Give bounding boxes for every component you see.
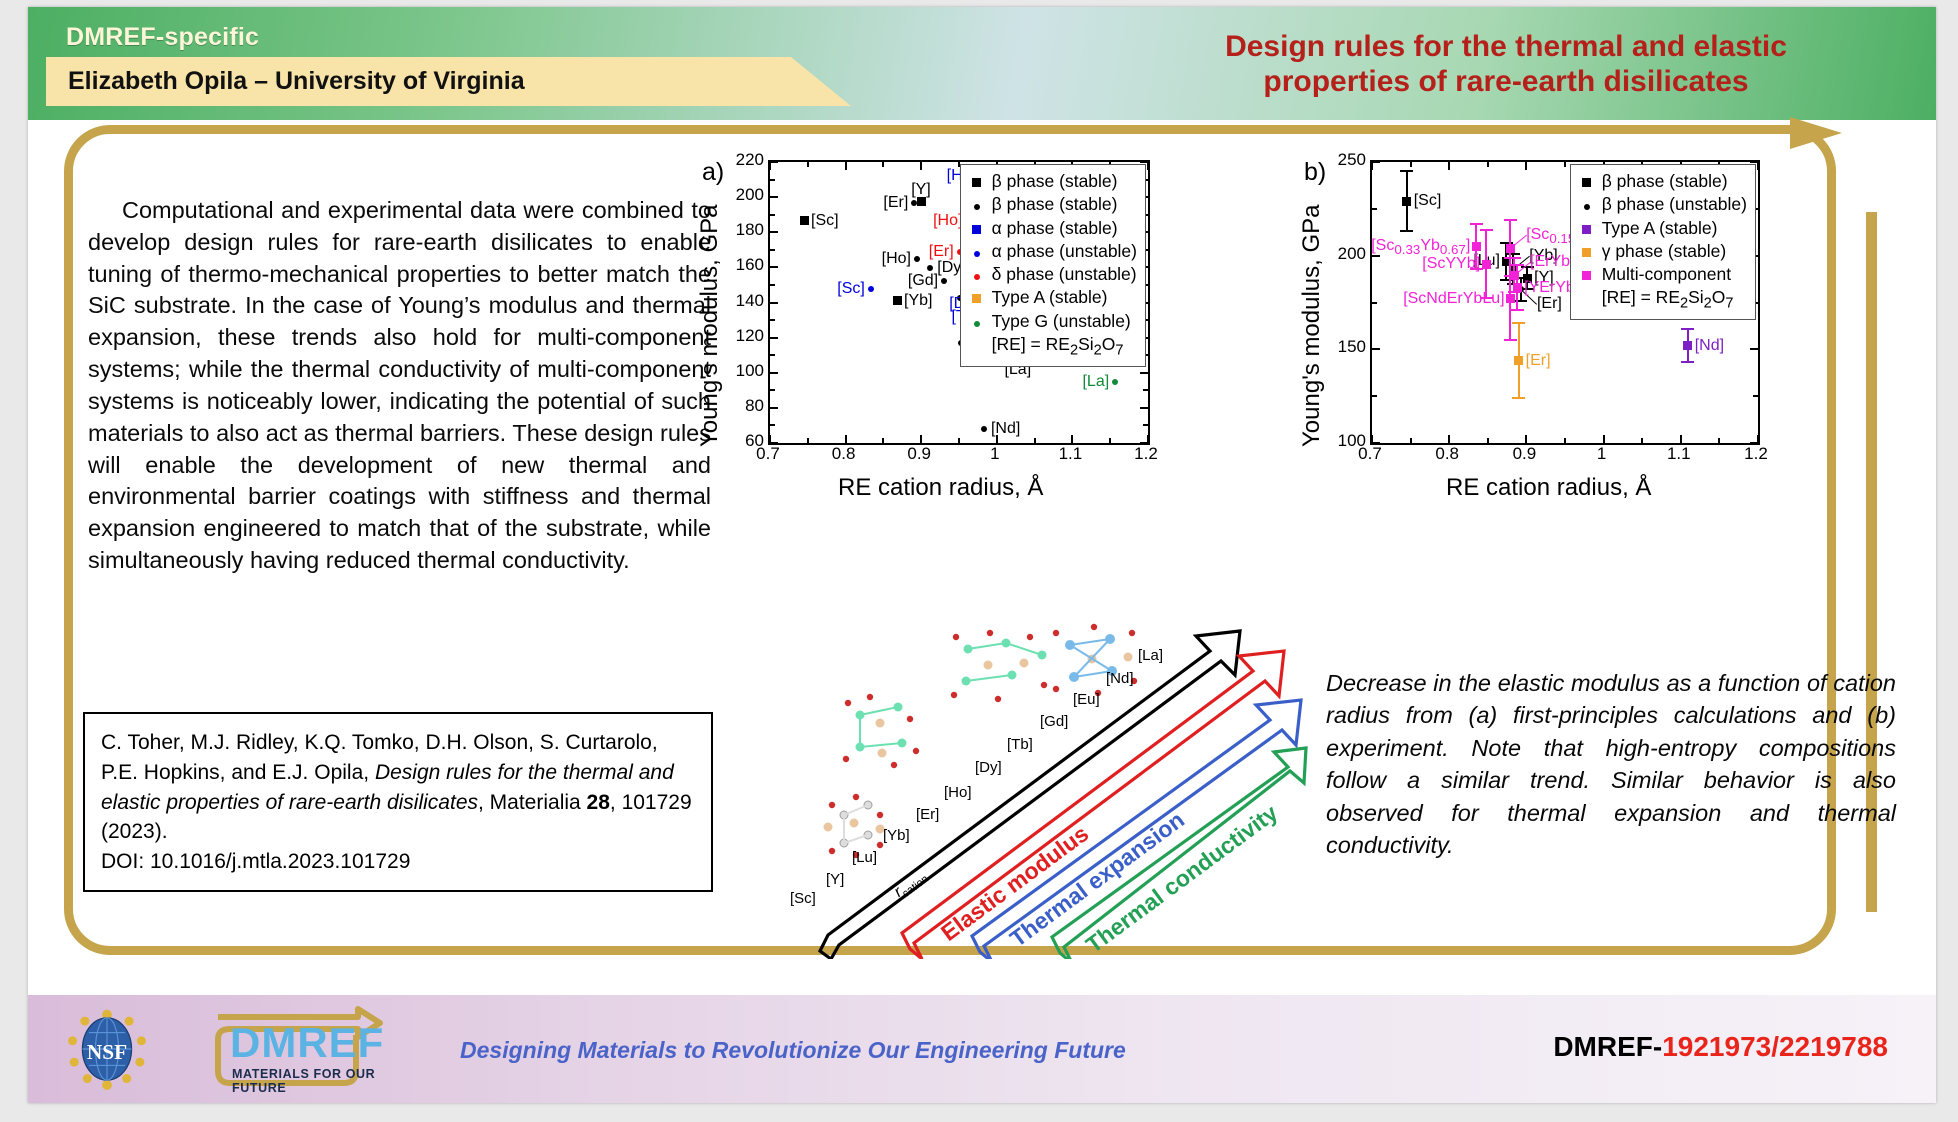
data-point [1402, 197, 1411, 206]
error-bar-cap [1504, 339, 1517, 341]
slide-header: DMREF-specific Elizabeth Opila – Univers… [28, 7, 1936, 120]
arrow-element-la: [La] [1138, 647, 1163, 664]
y-minor-tickmark [770, 319, 775, 321]
x-axis-label-a: RE cation radius, Å [838, 474, 1043, 502]
citation-journal: , Materialia [478, 791, 587, 814]
data-point-label: [Yb] [904, 292, 932, 310]
legend-item-label: α phase (stable) [992, 217, 1118, 240]
grant-prefix: DMREF- [1553, 1031, 1662, 1062]
x-tickmark [1680, 435, 1682, 443]
y-tickmark [770, 196, 778, 198]
legend-item: β phase (stable) [1577, 170, 1747, 193]
data-point-label: [Y] [911, 181, 931, 199]
arrow-r-cation [820, 631, 1240, 959]
y-tickmark [1140, 372, 1148, 374]
error-bar-cap [1512, 322, 1525, 324]
x-tickmark [1071, 435, 1073, 443]
grant-numbers: 1921973/2219788 [1662, 1031, 1888, 1062]
legend-square-icon [1577, 217, 1597, 240]
page-title: Design rules for the thermal and elastic… [1116, 29, 1896, 100]
y-tick-label: 160 [722, 255, 764, 275]
legend-item: Type G (unstable) [967, 310, 1137, 333]
legend-item: β phase (stable) [967, 170, 1137, 193]
x-minor-tickmark [1410, 438, 1412, 443]
data-point-label: [Nd] [991, 420, 1020, 438]
y-minor-tickmark [1143, 424, 1148, 426]
presenter-ribbon: Elizabeth Opila – University of Virginia [46, 57, 851, 106]
dmref-logo-word: DMREF [230, 1019, 384, 1067]
x-tick-label: 0.9 [1502, 444, 1546, 464]
chart-legend: β phase (stable)β phase (stable)α phase … [960, 164, 1146, 367]
x-tickmark [845, 162, 847, 170]
x-minor-tickmark [882, 162, 884, 167]
x-tickmark [920, 162, 922, 170]
summary-paragraph: Computational and experimental data were… [88, 195, 711, 577]
arrow-element-er: [Er] [916, 806, 939, 823]
panel-label-b: b) [1304, 158, 1326, 187]
slide-footer: NSF DMREF MATERIALS FOR OUR FUTURE Desig… [28, 995, 1936, 1103]
data-point [1482, 260, 1491, 269]
y-tick-label: 140 [722, 291, 764, 311]
data-point [1683, 341, 1692, 350]
data-point [1513, 283, 1522, 292]
x-minor-tickmark [1564, 162, 1566, 167]
error-bar-cap [1511, 264, 1524, 266]
chart-legend: β phase (stable)β phase (unstable)Type A… [1570, 164, 1756, 320]
x-tick-label: 1.2 [1734, 444, 1778, 464]
y-tick-label: 100 [1324, 431, 1366, 451]
y-tick-label: 200 [1324, 244, 1366, 264]
y-tick-label: 180 [722, 220, 764, 240]
x-tick-label: 0.8 [1425, 444, 1469, 464]
y-tick-label: 200 [722, 185, 764, 205]
nsf-logo-text: NSF [87, 1040, 127, 1064]
legend-square-icon [967, 170, 987, 193]
arrow-element-gd: [Gd] [1040, 713, 1068, 730]
x-minor-tickmark [807, 162, 809, 167]
y-tickmark [1140, 161, 1148, 163]
data-point-label: [Sc] [811, 212, 839, 230]
legend-square-icon [967, 286, 987, 309]
y-axis-label-a: Young's modulus, GPa [696, 204, 724, 447]
x-tickmark [1603, 435, 1605, 443]
nsf-logo: NSF [66, 1007, 148, 1091]
presenter-name: Elizabeth Opila – University of Virginia [68, 67, 525, 96]
data-point [1112, 379, 1118, 385]
data-point [981, 426, 987, 432]
chart-panel-b: b) Young's modulus, GPa RE cation radius… [1316, 152, 1786, 497]
legend-item: β phase (unstable) [1577, 193, 1747, 216]
y-tickmark [1372, 348, 1380, 350]
data-point-label: [Sc] [1414, 192, 1442, 210]
x-tickmark [769, 162, 771, 170]
data-point [893, 296, 902, 305]
trend-arrow-diagram: rcation Elastic modulus Thermal expansio… [798, 619, 1318, 959]
legend-item: [RE] = RE2Si2O7 [967, 333, 1137, 361]
y-tick-label: 120 [722, 326, 764, 346]
legend-item: Multi-component [1577, 263, 1747, 286]
error-bar-cap [1681, 361, 1694, 363]
x-minor-tickmark [1034, 438, 1036, 443]
x-tick-label: 1.1 [1048, 444, 1092, 464]
data-point [1472, 242, 1481, 251]
molecule-cluster-yb [843, 694, 919, 768]
legend-item: Type A (stable) [1577, 217, 1747, 240]
y-tick-label: 220 [722, 150, 764, 170]
x-tickmark [1448, 435, 1450, 443]
arrow-element-sc: [Sc] [790, 890, 816, 907]
data-point [868, 286, 874, 292]
y-tickmark [770, 372, 778, 374]
legend-item-label: γ phase (stable) [1602, 240, 1727, 263]
y-minor-tickmark [770, 389, 775, 391]
legend-dot-icon [967, 240, 987, 263]
molecule-cluster-gd [951, 630, 1047, 702]
legend-square-icon [967, 217, 987, 240]
x-minor-tickmark [807, 438, 809, 443]
frame-arrow-icon [1790, 117, 1842, 149]
x-minor-tickmark [1487, 438, 1489, 443]
legend-item-label: Type A (stable) [992, 286, 1108, 309]
y-tick-label: 150 [1324, 337, 1366, 357]
legend-dot-icon [967, 310, 987, 333]
x-minor-tickmark [958, 438, 960, 443]
legend-item-label: Type G (unstable) [992, 310, 1131, 333]
error-bar-cap [1512, 397, 1525, 399]
x-tickmark [1757, 162, 1759, 170]
dmref-logo: DMREF MATERIALS FOR OUR FUTURE [208, 1005, 418, 1093]
x-minor-tickmark [1487, 162, 1489, 167]
legend-item: Type A (stable) [967, 286, 1137, 309]
y-minor-tickmark [770, 354, 775, 356]
data-point-label: [Er] [1537, 295, 1562, 313]
y-minor-tickmark [1143, 389, 1148, 391]
error-bar-cap [1504, 219, 1517, 221]
panel-label-a: a) [702, 158, 724, 187]
y-minor-tickmark [770, 249, 775, 251]
data-point [914, 256, 920, 262]
legend-item-label: Type A (stable) [1602, 217, 1718, 240]
x-tickmark [1525, 435, 1527, 443]
y-tickmark [770, 302, 778, 304]
legend-square-icon [1577, 240, 1597, 263]
data-point-label: [Ho] [933, 212, 962, 230]
legend-item-label: [RE] = RE2Si2O7 [992, 333, 1124, 361]
x-tickmark [1371, 162, 1373, 170]
y-tickmark [1750, 348, 1758, 350]
x-tick-label: 1 [1580, 444, 1624, 464]
legend-item-label: β phase (stable) [992, 193, 1118, 216]
arrow-thermal-conductivity [1052, 748, 1306, 959]
error-bar-cap [1480, 229, 1493, 231]
x-tickmark [845, 435, 847, 443]
legend-item: δ phase (unstable) [967, 263, 1137, 286]
header-tag: DMREF-specific [66, 23, 259, 52]
y-minor-tickmark [1372, 208, 1377, 210]
y-minor-tickmark [1372, 302, 1377, 304]
plot-area-a: [Sc][Er][Y][Ho][Dy][Gd][Yb][Tb][Eu][La][… [768, 160, 1150, 445]
x-tickmark [1147, 162, 1149, 170]
legend-square-icon [1577, 263, 1597, 286]
x-tick-label: 0.8 [822, 444, 866, 464]
y-axis-label-b: Young's modulus, GPa [1298, 204, 1326, 447]
data-point-label: [Er] [929, 243, 954, 261]
y-minor-tickmark [770, 214, 775, 216]
legend-item-label: [RE] = RE2Si2O7 [1602, 286, 1734, 314]
x-minor-tickmark [1641, 438, 1643, 443]
y-minor-tickmark [1372, 395, 1377, 397]
arrow-element-eu: [Eu] [1073, 691, 1100, 708]
data-point-label: [Ho] [882, 250, 911, 268]
x-tickmark [1525, 162, 1527, 170]
x-tick-label: 1 [973, 444, 1017, 464]
y-minor-tickmark [770, 284, 775, 286]
footer-tagline: Designing Materials to Revolutionize Our… [460, 1037, 1126, 1064]
data-point-label: [ScNdErYbLu] [1403, 290, 1504, 308]
x-axis-label-b: RE cation radius, Å [1446, 474, 1651, 502]
x-tick-label: 0.9 [897, 444, 941, 464]
citation-box: C. Toher, M.J. Ridley, K.Q. Tomko, D.H. … [83, 712, 713, 892]
arrow-element-dy: [Dy] [975, 759, 1002, 776]
data-point [800, 216, 809, 225]
citation-volume: 28 [587, 791, 610, 814]
x-minor-tickmark [1109, 438, 1111, 443]
x-minor-tickmark [1718, 438, 1720, 443]
arrow-element-lu: [Lu] [852, 849, 877, 866]
x-minor-tickmark [1564, 438, 1566, 443]
error-bar-cap [1400, 170, 1413, 172]
arrow-element-tb: [Tb] [1007, 736, 1033, 753]
legend-item-label: β phase (stable) [1602, 170, 1728, 193]
y-tick-label: 80 [722, 396, 764, 416]
page-title-line1: Design rules for the thermal and elastic [1116, 29, 1896, 64]
y-tickmark [1372, 161, 1380, 163]
figure-caption: Decrease in the elastic modulus as a fun… [1326, 667, 1896, 862]
legend-dot-icon [967, 193, 987, 216]
legend-square-icon [1577, 170, 1597, 193]
legend-item: β phase (stable) [967, 193, 1137, 216]
y-tickmark [1140, 407, 1148, 409]
legend-item: α phase (unstable) [967, 240, 1137, 263]
y-minor-tickmark [1753, 395, 1758, 397]
legend-dot-icon [967, 263, 987, 286]
x-tickmark [1448, 162, 1450, 170]
data-point [1514, 356, 1523, 365]
arrow-element-ho: [Ho] [944, 784, 972, 801]
y-tick-label: 100 [722, 361, 764, 381]
legend-item: [RE] = RE2Si2O7 [1577, 286, 1747, 314]
arrow-element-yb: [Yb] [883, 827, 910, 844]
arrow-element-y: [Y] [826, 871, 844, 888]
slide: DMREF-specific Elizabeth Opila – Univers… [28, 7, 1936, 1103]
x-tick-label: 1.1 [1657, 444, 1701, 464]
legend-item-label: α phase (unstable) [992, 240, 1137, 263]
y-tickmark [1750, 161, 1758, 163]
x-tickmark [920, 435, 922, 443]
legend-item-label: β phase (stable) [992, 170, 1118, 193]
legend-item: γ phase (stable) [1577, 240, 1747, 263]
data-point-label: [Er] [1526, 352, 1551, 370]
data-point-label: [Sc] [837, 280, 865, 298]
legend-dot-icon [1577, 193, 1597, 216]
dmref-logo-subtitle: MATERIALS FOR OUR FUTURE [232, 1067, 418, 1095]
data-point [927, 265, 933, 271]
y-tickmark [770, 231, 778, 233]
y-tickmark [770, 407, 778, 409]
error-bar-cap [1511, 309, 1524, 311]
plot-area-b: [Sc][Lu][Yb][Y][Er][Sc0.33Yb0.67][ScYYb]… [1370, 160, 1760, 445]
x-tick-label: 1.2 [1124, 444, 1168, 464]
arrow-element-nd: [Nd] [1106, 670, 1134, 687]
error-bar-cap [1470, 223, 1483, 225]
y-tickmark [770, 266, 778, 268]
grant-number: DMREF-1921973/2219788 [1553, 1031, 1888, 1063]
data-point [1506, 294, 1515, 303]
data-point-label: [ScYYb] [1422, 255, 1480, 273]
legend-item-label: δ phase (unstable) [992, 263, 1137, 286]
data-point-label: [La] [1082, 373, 1109, 391]
y-tick-label: 60 [722, 431, 764, 451]
y-tickmark [770, 161, 778, 163]
error-bar-cap [1504, 257, 1517, 259]
legend-item-label: Multi-component [1602, 263, 1731, 286]
error-bar-cap [1400, 230, 1413, 232]
x-minor-tickmark [1410, 162, 1412, 167]
y-tick-label: 250 [1324, 150, 1366, 170]
page-title-line2: properties of rare-earth disilicates [1116, 64, 1896, 99]
y-minor-tickmark [770, 179, 775, 181]
citation-doi: DOI: 10.1016/j.mtla.2023.101729 [101, 850, 410, 873]
data-point [941, 278, 947, 284]
chart-panel-a: a) Young's modulus, GPa RE cation radius… [718, 152, 1178, 497]
data-point-label: [Nd] [1695, 337, 1724, 355]
data-point-label: [Er] [883, 194, 908, 212]
data-point-label: [Gd] [908, 272, 938, 290]
legend-item: α phase (stable) [967, 217, 1137, 240]
y-minor-tickmark [770, 424, 775, 426]
legend-item-label: β phase (unstable) [1602, 193, 1747, 216]
error-bar-cap [1681, 328, 1694, 330]
y-tickmark [770, 337, 778, 339]
x-minor-tickmark [882, 438, 884, 443]
